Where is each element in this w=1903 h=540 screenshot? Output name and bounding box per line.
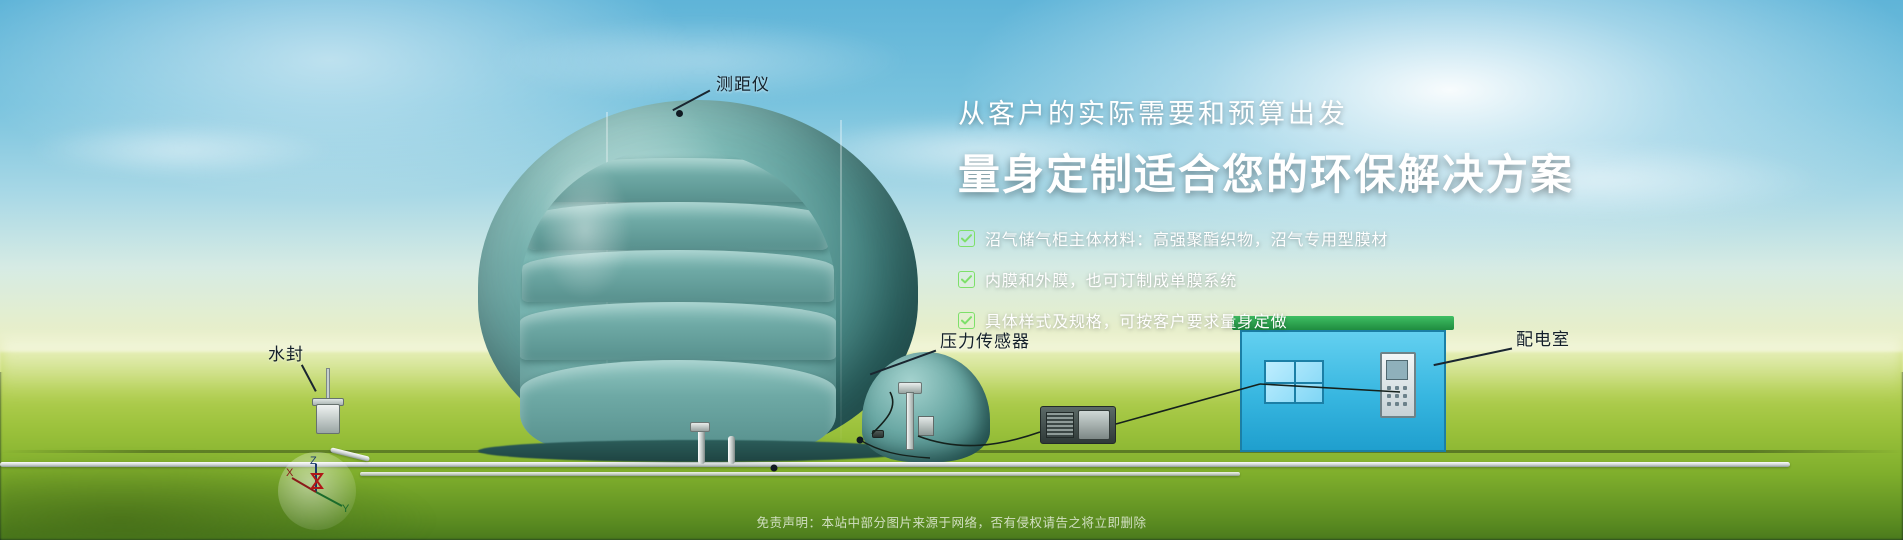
building-window xyxy=(1264,360,1324,404)
pressure-sensor-column xyxy=(906,392,914,450)
callout-label-water-seal: 水封 xyxy=(268,340,304,365)
feature-text: 具体样式及规格，可按客户要求量身定做 xyxy=(985,308,1287,332)
skid-grill xyxy=(1046,412,1074,438)
hero-subtitle: 从客户的实际需要和预算出发 xyxy=(958,92,1638,131)
gizmo-axis-z: Z xyxy=(310,455,317,467)
callout-label-rangefinder: 测距仪 xyxy=(716,70,770,95)
check-icon xyxy=(958,271,975,288)
sensor-cable-joint xyxy=(872,430,884,438)
feature-text: 沼气储气柜主体材料：高强聚酯织物，沼气专用型膜材 xyxy=(985,226,1388,250)
check-icon xyxy=(958,312,975,329)
disclaimer-text: 免责声明：本站中部分图片来源于网络，否有侵权请告之将立即删除 xyxy=(0,512,1903,531)
check-icon xyxy=(958,230,975,247)
feature-item: 内膜和外膜，也可订制成单膜系统 xyxy=(958,267,1638,291)
rangefinder-device xyxy=(676,110,683,117)
hero-text-block: 从客户的实际需要和预算出发 量身定制适合您的环保解决方案 沼气储气柜主体材料：高… xyxy=(958,92,1638,349)
feature-list: 沼气储气柜主体材料：高强聚酯织物，沼气专用型膜材 内膜和外膜，也可订制成单膜系统… xyxy=(958,226,1638,332)
control-panel-buttons xyxy=(1387,386,1407,408)
pipeline-lower xyxy=(360,472,1240,476)
dome-outlet-pipe xyxy=(728,436,735,464)
dome-seam-right xyxy=(840,120,842,440)
water-seal-post xyxy=(326,368,330,400)
hero-headline: 量身定制适合您的环保解决方案 xyxy=(958,141,1638,202)
feature-item: 具体样式及规格，可按客户要求量身定做 xyxy=(958,308,1638,332)
dome-outlet-pipe xyxy=(698,428,705,464)
valve-box xyxy=(690,422,710,432)
water-seal-unit xyxy=(316,404,340,434)
skid-cabinet xyxy=(1078,410,1110,440)
dome-highlight xyxy=(520,130,650,330)
pressure-sensor-box xyxy=(918,416,934,436)
gizmo-axis-x: X xyxy=(286,467,294,479)
membrane-step xyxy=(520,360,836,450)
control-panel-screen xyxy=(1386,360,1408,380)
feature-text: 内膜和外膜，也可订制成单膜系统 xyxy=(985,267,1237,291)
hero-banner: Z Y X 测距仪 水封 压力传感器 配电室 从客户的实际需要和预算出发 量身定… xyxy=(0,0,1903,540)
feature-item: 沼气储气柜主体材料：高强聚酯织物，沼气专用型膜材 xyxy=(958,226,1638,250)
